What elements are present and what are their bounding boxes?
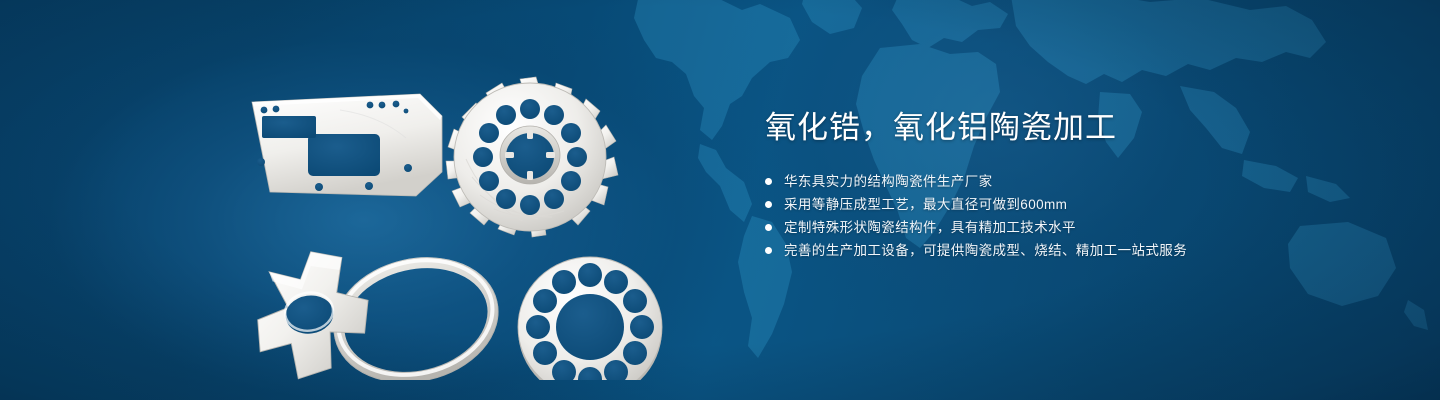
feature-list: 华东具实力的结构陶瓷件生产厂家 采用等静压成型工艺，最大直径可做到600mm 定… (765, 170, 1365, 262)
bullet-dot-icon (765, 247, 772, 254)
list-item: 定制特殊形状陶瓷结构件，具有精加工技术水平 (765, 216, 1365, 239)
list-item: 华东具实力的结构陶瓷件生产厂家 (765, 170, 1365, 193)
bullet-dot-icon (765, 224, 772, 231)
banner-copy: 氧化锆，氧化铝陶瓷加工 华东具实力的结构陶瓷件生产厂家 采用等静压成型工艺，最大… (765, 108, 1365, 262)
feature-text: 华东具实力的结构陶瓷件生产厂家 (784, 170, 993, 193)
list-item: 采用等静压成型工艺，最大直径可做到600mm (765, 193, 1365, 216)
bullet-dot-icon (765, 201, 772, 208)
page-title: 氧化锆，氧化铝陶瓷加工 (765, 108, 1365, 148)
feature-text: 完善的生产加工设备，可提供陶瓷成型、烧结、精加工一站式服务 (784, 239, 1187, 262)
ceramic-machined-plate (252, 94, 442, 196)
bullet-dot-icon (765, 178, 772, 185)
product-photo-group (230, 40, 700, 380)
feature-text: 定制特殊形状陶瓷结构件，具有精加工技术水平 (784, 216, 1076, 239)
ceramic-perforated-disc (518, 257, 662, 380)
list-item: 完善的生产加工设备，可提供陶瓷成型、烧结、精加工一站式服务 (765, 239, 1365, 262)
hero-banner: 氧化锆，氧化铝陶瓷加工 华东具实力的结构陶瓷件生产厂家 采用等静压成型工艺，最大… (0, 0, 1440, 400)
feature-text: 采用等静压成型工艺，最大直径可做到600mm (784, 193, 1067, 216)
ceramic-impeller (446, 77, 618, 237)
